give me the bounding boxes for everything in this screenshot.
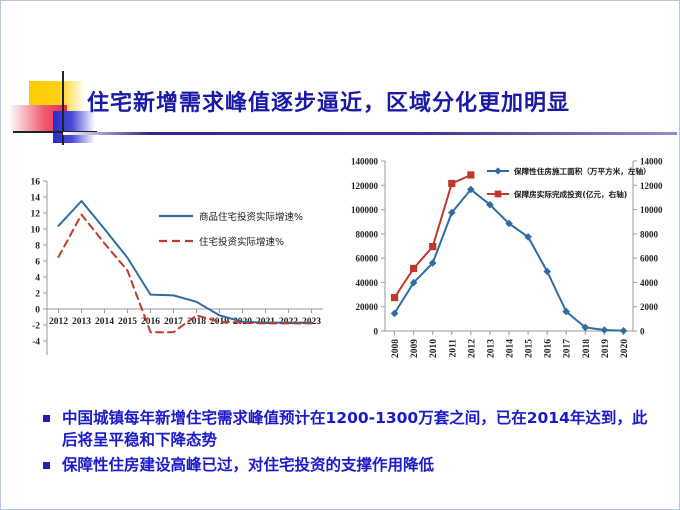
x-axis-tick-label: 2015 — [525, 339, 535, 358]
legend-label-1: 住宅投资实际增速% — [199, 236, 284, 248]
legend-marker-diamond — [494, 167, 501, 174]
chart-affordable-housing: 0200004000060000800001000001200001400000… — [335, 149, 677, 393]
y-axis-tick-label: 0 — [35, 306, 40, 316]
x-axis-tick-label: 2015 — [118, 317, 137, 327]
x-axis-tick-label: 2017 — [563, 339, 573, 358]
chart-right-legend: 保障性住房施工面积（万平方米，左轴）保障房实际完成投资(亿元，右轴) — [487, 166, 651, 199]
title-underline — [63, 132, 677, 135]
legend-marker-square — [495, 191, 502, 198]
list-item: 中国城镇每年新增住宅需求峰值预计在1200-1300万套之间，已在2014年达到… — [43, 407, 655, 452]
x-axis-tick-label: 2013 — [486, 339, 496, 358]
y-axis-right-tick-label: 0 — [640, 327, 645, 337]
y-axis-tick-label: -2 — [32, 322, 40, 332]
series-marker-square — [429, 243, 436, 250]
x-axis-tick-label: 2019 — [601, 339, 611, 358]
x-axis-tick-label: 2020 — [620, 339, 630, 358]
y-axis-tick-label: 6 — [35, 258, 40, 268]
series-marker-square — [448, 180, 455, 187]
legend-label-0: 商品住宅投资实际增速% — [199, 211, 303, 223]
slide-title: 住宅新增需求峰值逐步逼近，区域分化更加明显 — [87, 85, 570, 117]
chart-right-svg: 0200004000060000800001000001200001400000… — [335, 149, 677, 393]
y-axis-tick-label: 8 — [35, 242, 40, 252]
y-axis-left-tick-label: 140000 — [351, 157, 379, 167]
series-line-1 — [395, 175, 471, 298]
y-axis-left-tick-label: 60000 — [356, 254, 379, 264]
x-axis-tick-label: 2009 — [410, 339, 420, 358]
y-axis-right-tick-label: 12000 — [640, 181, 663, 191]
y-axis-right-tick-label: 6000 — [640, 254, 659, 264]
chart-left-svg: -4-2024681012141620122013201420152016201… — [9, 153, 331, 391]
y-axis-tick-label: 12 — [31, 210, 41, 220]
series-marker-square — [467, 171, 474, 178]
chart-left-legend: 商品住宅投资实际增速%住宅投资实际增速% — [159, 211, 303, 248]
x-axis-tick-label: 2012 — [467, 339, 477, 358]
bullet-square-icon — [43, 462, 50, 469]
list-item: 保障性住房建设高峰已过，对住宅投资的支撑作用降低 — [43, 454, 655, 476]
x-axis-tick-label: 2012 — [49, 317, 68, 327]
y-axis-left-tick-label: 80000 — [356, 229, 379, 239]
series-marker-square — [410, 265, 417, 272]
x-axis-tick-label: 2017 — [164, 317, 183, 327]
series-marker-diamond — [620, 327, 628, 335]
x-axis-tick-label: 2014 — [506, 339, 516, 358]
chart-right-body: 0200004000060000800001000001200001400000… — [351, 157, 663, 359]
y-axis-right-tick-label: 14000 — [640, 157, 663, 167]
y-axis-left-tick-label: 100000 — [351, 205, 379, 215]
series-line-0 — [395, 190, 624, 331]
bullet-text: 保障性住房建设高峰已过，对住宅投资的支撑作用降低 — [62, 454, 434, 476]
y-axis-right-tick-label: 2000 — [640, 302, 659, 312]
chart-residential-investment-growth: -4-2024681012141620122013201420152016201… — [9, 153, 331, 391]
legend-label-1: 保障房实际完成投资(亿元，右轴) — [513, 189, 627, 199]
y-axis-tick-label: 4 — [35, 274, 40, 284]
bullet-text: 中国城镇每年新增住宅需求峰值预计在1200-1300万套之间，已在2014年达到… — [62, 407, 655, 452]
series-marker-diamond — [543, 268, 551, 276]
x-axis-tick-label: 2016 — [544, 339, 554, 358]
legend-label-0: 保障性住房施工面积（万平方米，左轴） — [513, 166, 651, 176]
x-axis-tick-label: 2016 — [141, 317, 160, 327]
bullet-list: 中国城镇每年新增住宅需求峰值预计在1200-1300万套之间，已在2014年达到… — [43, 407, 655, 478]
y-axis-tick-label: 14 — [31, 194, 41, 204]
x-axis-tick-label: 2014 — [95, 317, 114, 327]
y-axis-right-tick-label: 4000 — [640, 278, 659, 288]
bullet-square-icon — [43, 415, 50, 422]
y-axis-tick-label: 10 — [31, 226, 41, 236]
x-axis-tick-label: 2008 — [391, 339, 401, 358]
x-axis-tick-label: 2018 — [187, 317, 206, 327]
y-axis-tick-label: 16 — [31, 178, 41, 188]
y-axis-right-tick-label: 8000 — [640, 229, 659, 239]
y-axis-tick-label: -4 — [32, 338, 40, 348]
x-axis-tick-label: 2010 — [429, 339, 439, 358]
y-axis-right-tick-label: 10000 — [640, 205, 663, 215]
series-marker-diamond — [601, 326, 609, 334]
y-axis-left-tick-label: 120000 — [351, 181, 379, 191]
x-axis-tick-label: 2018 — [582, 339, 592, 358]
x-axis-tick-label: 2013 — [72, 317, 91, 327]
chart-left-body: -4-2024681012141620122013201420152016201… — [31, 178, 324, 356]
y-axis-tick-label: 2 — [35, 290, 40, 300]
series-marker-square — [391, 294, 398, 301]
y-axis-left-tick-label: 40000 — [356, 278, 379, 288]
y-axis-left-tick-label: 0 — [374, 327, 379, 337]
y-axis-left-tick-label: 20000 — [356, 302, 379, 312]
x-axis-tick-label: 2011 — [448, 339, 458, 358]
series-line-1 — [59, 215, 312, 333]
slide-canvas: 住宅新增需求峰值逐步逼近，区域分化更加明显 -4-202468101214162… — [0, 0, 680, 510]
